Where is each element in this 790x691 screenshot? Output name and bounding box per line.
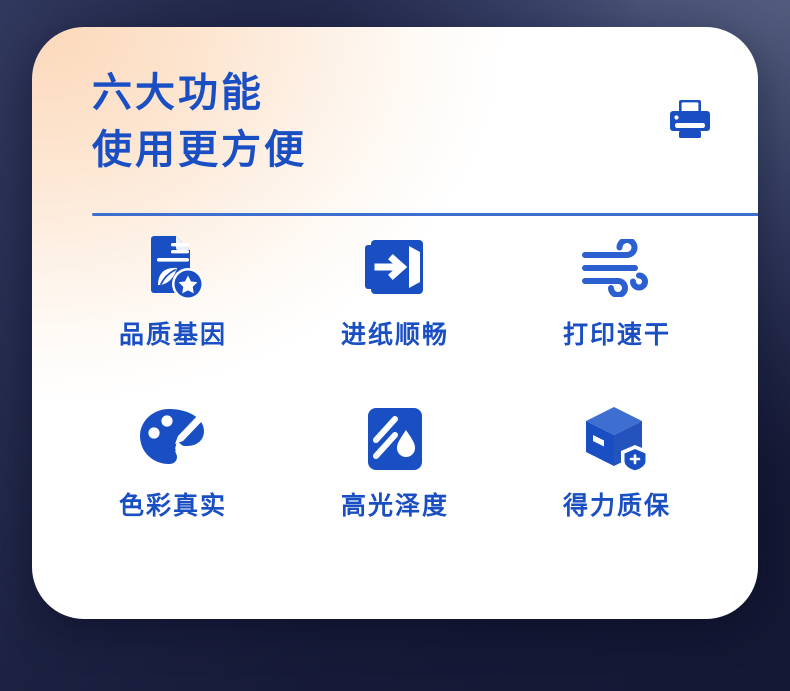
gloss-droplet-icon <box>359 403 431 475</box>
feature-label: 色彩真实 <box>119 493 227 518</box>
paint-palette-icon <box>137 403 209 475</box>
feature-label: 品质基因 <box>119 322 227 347</box>
header-divider <box>92 213 758 216</box>
feature-label: 进纸顺畅 <box>341 322 449 347</box>
paper-feed-arrow-icon <box>359 232 431 304</box>
feature-label: 打印速干 <box>563 322 671 347</box>
wind-lines-icon <box>581 232 653 304</box>
feature-card: 六大功能 使用更方便 <box>32 27 758 619</box>
feature-grid: 品质基因 进纸顺畅 <box>62 232 728 518</box>
title-line-2: 使用更方便 <box>92 122 307 179</box>
title-line-1: 六大功能 <box>92 65 307 122</box>
box-shield-icon <box>581 403 653 475</box>
feature-item-high-gloss: 高光泽度 <box>284 403 506 518</box>
feature-label: 高光泽度 <box>341 493 449 518</box>
feature-item-warranty: 得力质保 <box>506 403 728 518</box>
feature-item-true-color: 色彩真实 <box>62 403 284 518</box>
feature-item-paper-feed: 进纸顺畅 <box>284 232 506 347</box>
card-header: 六大功能 使用更方便 <box>92 65 734 215</box>
feature-item-quality: 品质基因 <box>62 232 284 347</box>
feature-label: 得力质保 <box>563 493 671 518</box>
page-title: 六大功能 使用更方便 <box>92 65 307 179</box>
feature-item-quick-dry: 打印速干 <box>506 232 728 347</box>
printer-icon <box>668 98 712 140</box>
document-leaf-star-icon <box>137 232 209 304</box>
